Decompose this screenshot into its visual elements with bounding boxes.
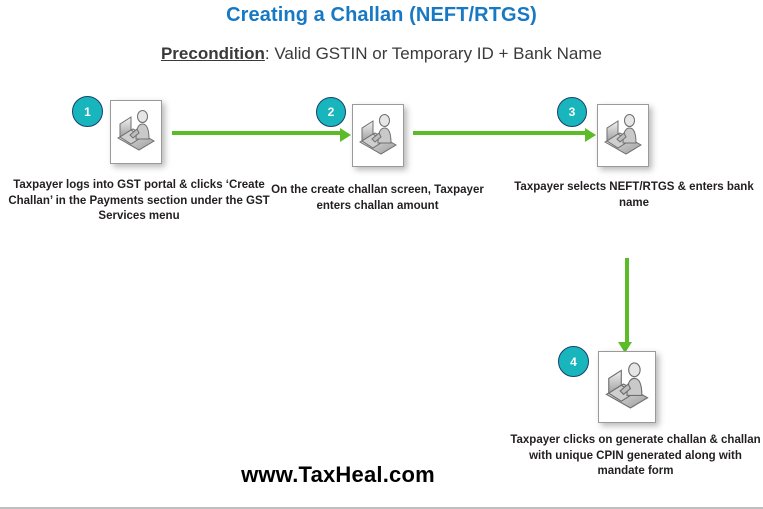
arrow-step1-to-step2-head (340, 128, 351, 142)
step-badge-3: 3 (557, 97, 587, 127)
person-at-desk-icon (115, 107, 157, 157)
arrow-step2-to-step3 (413, 131, 587, 135)
page-title: Creating a Challan (NEFT/RTGS) (0, 4, 763, 27)
precondition-label: Precondition (161, 44, 265, 63)
step-caption-3: Taxpayer selects NEFT/RTGS & enters bank… (505, 180, 763, 211)
arrow-step1-to-step2 (172, 131, 342, 135)
step-caption-4: Taxpayer clicks on generate challan & ch… (508, 433, 763, 480)
person-at-desk-icon (357, 111, 399, 161)
person-at-desk-icon (602, 111, 644, 161)
step-caption-2: On the create challan screen, Taxpayer e… (255, 183, 500, 214)
precondition-line: Precondition: Valid GSTIN or Temporary I… (0, 44, 763, 64)
arrow-step2-to-step3-head (585, 128, 596, 142)
step-icon-box-2 (352, 104, 404, 167)
step-badge-4: 4 (558, 346, 589, 377)
step-badge-1: 1 (72, 96, 103, 127)
website-watermark: www.TaxHeal.com (193, 462, 483, 488)
person-at-desk-icon (603, 359, 651, 416)
precondition-value: : Valid GSTIN or Temporary ID + Bank Nam… (265, 44, 602, 63)
step-icon-box-4 (598, 351, 656, 423)
step-icon-box-1 (110, 100, 162, 164)
step-icon-box-3 (597, 104, 649, 167)
step-badge-2: 2 (316, 97, 346, 127)
arrow-step3-to-step4 (625, 258, 629, 346)
step-caption-1: Taxpayer logs into GST portal & clicks ‘… (6, 178, 272, 225)
